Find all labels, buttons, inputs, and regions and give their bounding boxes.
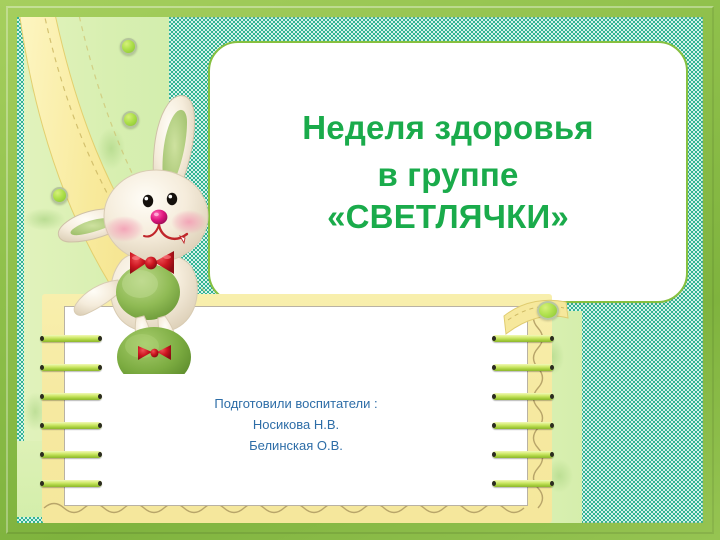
spiral-ring-right-2 [492, 364, 554, 371]
spiral-ring-left-6 [40, 480, 102, 487]
grommet-dot-2 [122, 111, 139, 128]
title-card: Неделя здоровья в группе «СВЕТЛЯЧКИ» [208, 41, 688, 303]
grommet-dot-3 [51, 187, 68, 204]
spiral-ring-right-5 [492, 451, 554, 458]
spiral-ring-left-4 [40, 422, 102, 429]
grommet-dot-1 [120, 38, 137, 55]
spiral-ring-left-1 [40, 335, 102, 342]
notepad: Подготовили воспитатели : Носикова Н.В. … [42, 294, 552, 523]
grommet-dot-notepad [537, 301, 559, 320]
notepad-credits: Подготовили воспитатели : Носикова Н.В. … [65, 393, 527, 456]
grommet-dot-4 [130, 254, 147, 271]
spiral-ring-right-6 [492, 480, 554, 487]
spiral-ring-left-5 [40, 451, 102, 458]
credits-line-1: Подготовили воспитатели : [65, 393, 527, 414]
spiral-ring-left-3 [40, 393, 102, 400]
spiral-ring-right-4 [492, 422, 554, 429]
spiral-ring-right-1 [492, 335, 554, 342]
spiral-ring-right-3 [492, 393, 554, 400]
credits-line-2: Носикова Н.В. [65, 414, 527, 435]
title-line-2: в группе [377, 154, 518, 196]
presentation-slide: Неделя здоровья в группе «СВЕТЛЯЧКИ» Под… [0, 0, 720, 540]
title-line-3: «СВЕТЛЯЧКИ» [327, 196, 569, 238]
title-line-1: Неделя здоровья [302, 107, 594, 149]
credits-line-3: Белинская О.В. [65, 435, 527, 456]
spiral-ring-left-2 [40, 364, 102, 371]
notepad-paper: Подготовили воспитатели : Носикова Н.В. … [64, 306, 528, 506]
